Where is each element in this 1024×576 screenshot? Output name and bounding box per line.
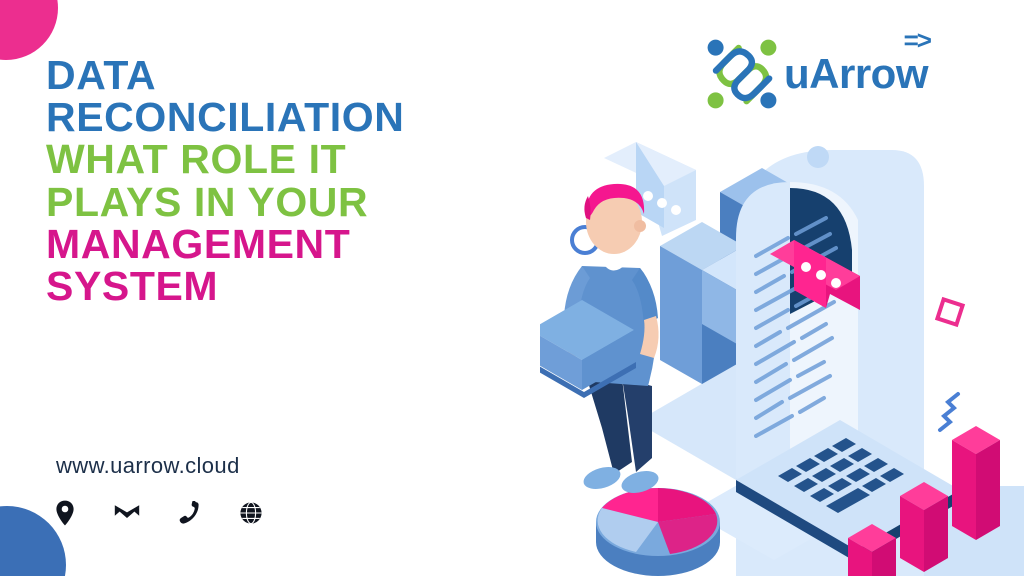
globe-icon[interactable] — [238, 500, 264, 526]
blue-zigzag-decoration — [940, 394, 958, 430]
website-url[interactable]: www.uarrow.cloud — [56, 453, 240, 479]
headline-line-5: MANAGEMENT — [46, 223, 546, 265]
corner-decoration-pink — [0, 0, 58, 60]
headline-line-4: PLAYS IN YOUR — [46, 181, 546, 223]
person-with-laptop — [540, 184, 661, 497]
hero-illustration — [540, 110, 1024, 576]
brand-logo[interactable]: => uArrow — [702, 34, 928, 114]
logo-brand-text: uArrow — [784, 50, 928, 97]
pink-diamond-decoration — [937, 299, 962, 324]
headline-line-2: RECONCILIATION — [46, 96, 546, 138]
location-pin-icon[interactable] — [52, 500, 78, 526]
headline-line-1: DATA — [46, 54, 546, 96]
headline-line-3: WHAT ROLE IT — [46, 138, 546, 180]
logo-text-wrap: => uArrow — [784, 53, 928, 95]
headline-line-6: SYSTEM — [46, 265, 546, 307]
envelope-icon[interactable] — [114, 500, 140, 526]
uarrow-logo-mark-icon — [702, 34, 782, 114]
phone-icon[interactable] — [176, 500, 202, 526]
marketing-banner: DATA RECONCILIATION WHAT ROLE IT PLAYS I… — [0, 0, 1024, 576]
headline-block: DATA RECONCILIATION WHAT ROLE IT PLAYS I… — [46, 54, 546, 307]
pie-chart-3d — [596, 488, 720, 576]
contact-icon-row — [52, 500, 264, 526]
light-blue-dot-decoration — [807, 146, 829, 168]
logo-arrow-icon: => — [904, 25, 930, 56]
